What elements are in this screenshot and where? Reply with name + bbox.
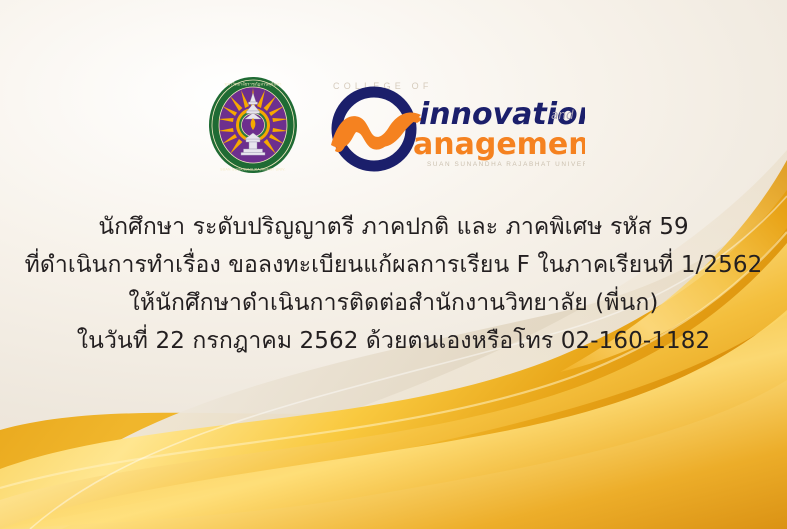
svg-text:SUAN SUNANDHA RAJABHAT UNIVERS: SUAN SUNANDHA RAJABHAT UNIVERSITY: [427, 161, 585, 168]
announcement-line-3: ให้นักศึกษาดำเนินการติดต่อสำนักงานวิทยาล…: [0, 284, 787, 322]
announcement-line-1: นักศึกษา ระดับปริญญาตรี ภาคปกติ และ ภาคพ…: [0, 208, 787, 246]
announcement-text-block: นักศึกษา ระดับปริญญาตรี ภาคปกติ และ ภาคพ…: [0, 208, 787, 360]
college-of-innovation-and-management-logo-icon: COLLEGE OF innovation and anagement SUAN…: [317, 77, 585, 173]
announcement-line-4: ในวันที่ 22 กรกฎาคม 2562 ด้วยตนเองหรือโท…: [0, 322, 787, 360]
svg-text:SUAN SUNANDHA RAJABHAT UNIV.: SUAN SUNANDHA RAJABHAT UNIV.: [220, 168, 286, 172]
suan-sunandha-rajabhat-university-seal-icon: มหาวิทยาลัยราชภัฏสวนสุนันทา SUAN SUNANDH…: [203, 75, 303, 175]
announcement-line-2: ที่ดำเนินการทำเรื่อง ขอลงทะเบียนแก้ผลการ…: [0, 246, 787, 284]
svg-text:anagement: anagement: [413, 127, 585, 162]
logo-row: มหาวิทยาลัยราชภัฏสวนสุนันทา SUAN SUNANDH…: [0, 70, 787, 180]
announcement-poster: มหาวิทยาลัยราชภัฏสวนสุนันทา SUAN SUNANDH…: [0, 0, 787, 529]
svg-text:and: and: [551, 108, 574, 122]
